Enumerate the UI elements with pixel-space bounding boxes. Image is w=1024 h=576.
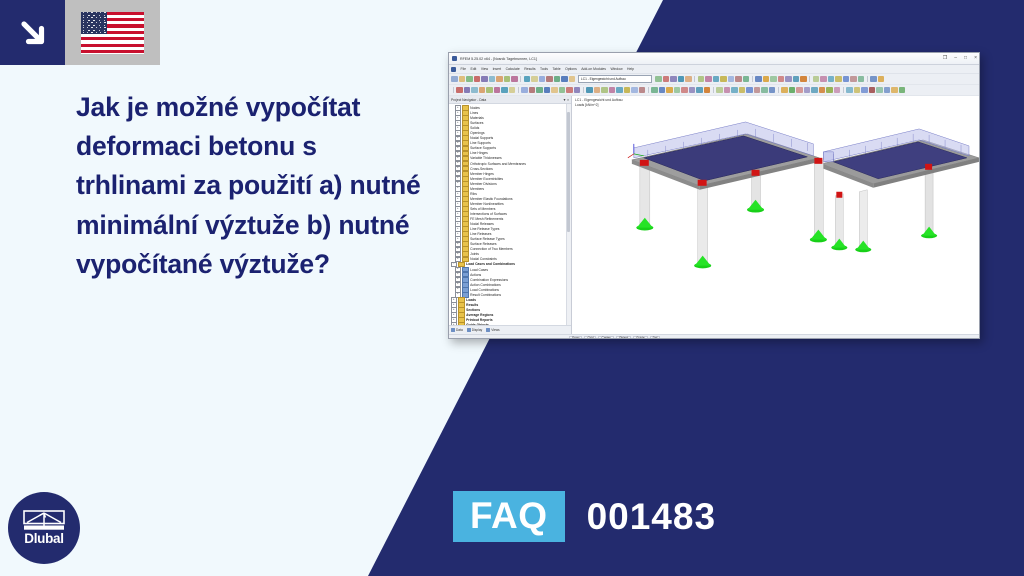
toolbar-separator <box>778 87 779 93</box>
toolbar-icon[interactable] <box>586 87 593 94</box>
toolbar-icon[interactable] <box>739 87 746 94</box>
toolbar-icon[interactable] <box>785 76 792 83</box>
toolbar-icon[interactable] <box>496 76 503 83</box>
toolbar-icon[interactable] <box>811 87 818 94</box>
status-cell[interactable]: Cartes <box>598 336 613 339</box>
menu-item-insert[interactable]: Insert <box>493 67 501 71</box>
tree-item-label: Surface Releases <box>470 242 496 246</box>
tree-item-label: Line Hinges <box>470 151 488 155</box>
tree-item-label: Intersections of Surfaces <box>470 212 507 216</box>
tree-item-label: Joints <box>470 252 479 256</box>
logo-wordmark: Dlubal <box>24 532 63 546</box>
tree-item-label: Member Nonlinearities <box>470 202 503 206</box>
toolbar-icon[interactable] <box>820 76 827 83</box>
toolbar-icon[interactable] <box>899 87 906 94</box>
toolbar-icon[interactable] <box>743 76 750 83</box>
tree-item-label: Nodal Releases <box>470 222 494 226</box>
tree-item-label: Line Release Types <box>470 227 499 231</box>
toolbar-icon[interactable] <box>670 76 677 83</box>
toolbar-icon[interactable] <box>539 76 546 83</box>
model-viewport[interactable]: LC1 - Eigengewicht und Aufbau Loads [kN/… <box>572 96 979 334</box>
toolbar-icon[interactable] <box>678 76 685 83</box>
toolbar-icon[interactable] <box>663 76 670 83</box>
menu-item-table[interactable]: Table <box>552 67 560 71</box>
toolbar-icon[interactable] <box>858 76 865 83</box>
tree-item-label: Load Cases <box>470 268 488 272</box>
tree-item-label: Surfaces <box>470 121 483 125</box>
tree-item-label: Orthotropic Surfaces and Membranes <box>470 162 526 166</box>
tab-views[interactable]: Views <box>486 328 499 332</box>
scrollbar-thumb[interactable] <box>567 112 570 232</box>
tree-expander-icon[interactable]: + <box>451 322 457 325</box>
toolbar-icon[interactable] <box>876 87 883 94</box>
toolbar-icon[interactable] <box>813 76 820 83</box>
toolbar-icon[interactable] <box>655 76 662 83</box>
toolbar-icon[interactable] <box>561 76 568 83</box>
toolbar-icon[interactable] <box>828 76 835 83</box>
navigator-tabs[interactable]: Data Display Views <box>449 325 571 334</box>
toolbar-icon[interactable] <box>834 87 841 94</box>
toolbar-icon[interactable] <box>869 87 876 94</box>
navigator-scrollbar[interactable] <box>566 104 572 325</box>
tree-item-label: Member Elastic Foundations <box>470 197 512 201</box>
window-title-text: RFEM 5.25.02 x64 - [Nosník Tagebrunnen, … <box>460 57 537 61</box>
toolbar-icon[interactable] <box>546 76 553 83</box>
navigator-pin-icon[interactable]: ▼ × <box>563 98 569 102</box>
toolbar-icon[interactable] <box>731 87 738 94</box>
navigator-tree[interactable]: +Nodes+Lines+Materials+Surfaces+Solids+O… <box>449 104 571 325</box>
toolbar-icon[interactable] <box>681 87 688 94</box>
tree-item-label: Line Releases <box>470 232 491 236</box>
tree-item-label: Results <box>466 303 478 307</box>
maximize-button[interactable]: □ <box>964 56 967 61</box>
menu-item-window[interactable]: Window <box>610 67 622 71</box>
window-title-bar: RFEM 5.25.02 x64 - [Nosník Tagebrunnen, … <box>449 53 979 65</box>
toolbar-icon[interactable] <box>471 87 478 94</box>
tree-item-label: Member Hinges <box>470 172 494 176</box>
toolbar-icon[interactable] <box>870 76 877 83</box>
toolbar-icon[interactable] <box>651 87 658 94</box>
load-case-combo[interactable]: LC1 - Eigengewicht und Aufbau <box>578 75 652 84</box>
toolbar-icon[interactable] <box>509 87 516 94</box>
faq-slide: Jak je možné vypočítat deformaci betonu … <box>0 0 1024 576</box>
toolbar-icon[interactable] <box>819 87 826 94</box>
toolbar-icon[interactable] <box>716 87 723 94</box>
toolbar-separator <box>520 76 521 82</box>
toolbar-icon[interactable] <box>796 87 803 94</box>
toolbar-icon[interactable] <box>891 87 898 94</box>
tree-item-label: Member Eccentricities <box>470 177 503 181</box>
window-controls: ❐ – □ × <box>943 53 977 64</box>
tree-item-label: Surface Supports <box>470 146 496 150</box>
toolbar-icon[interactable] <box>763 76 770 83</box>
toolbar-icon[interactable] <box>481 76 488 83</box>
language-flag-badge <box>65 0 160 65</box>
toolbar-icon[interactable] <box>778 76 785 83</box>
menu-item-tools[interactable]: Tools <box>540 67 548 71</box>
views-tab-icon <box>486 328 490 332</box>
front-supports <box>636 200 827 269</box>
navigator-title: Project Navigator - Data <box>451 98 486 102</box>
faq-question-headline: Jak je možné vypočítat deformaci betonu … <box>76 88 426 284</box>
toolbar-separator <box>713 87 714 93</box>
toolbar-icon[interactable] <box>551 87 558 94</box>
toolbar-separator <box>518 87 519 93</box>
toolbar-icon[interactable] <box>854 87 861 94</box>
faq-badge: FAQ <box>453 491 565 542</box>
toolbar-icon[interactable] <box>489 76 496 83</box>
toolbar-icon[interactable] <box>850 76 857 83</box>
us-flag-icon <box>81 12 144 54</box>
tree-item-label: Average Regions <box>466 313 493 317</box>
toolbar-icon[interactable] <box>624 87 631 94</box>
tab-data[interactable]: Data <box>451 328 463 332</box>
tree-item-label: Variable Thicknesses <box>470 156 501 160</box>
toolbar-icon[interactable] <box>674 87 681 94</box>
tree-item-label: Printout Reports <box>466 318 492 322</box>
dlubal-logo: Dlubal <box>8 492 80 564</box>
tree-item-label: Nodes <box>470 106 480 110</box>
faq-number: 001483 <box>587 498 716 535</box>
toolbar-icon[interactable] <box>698 76 705 83</box>
toolbar-icon[interactable] <box>789 87 796 94</box>
toolbar-separator <box>648 87 649 93</box>
toolbar-icon[interactable] <box>689 87 696 94</box>
toolbar-icon[interactable] <box>464 87 471 94</box>
rfem-application-window: RFEM 5.25.02 x64 - [Nosník Tagebrunnen, … <box>448 52 980 339</box>
toolbar-icon[interactable] <box>720 76 727 83</box>
tree-item-label: Members <box>470 187 484 191</box>
toolbar-icon[interactable] <box>501 87 508 94</box>
toolbar-icon[interactable] <box>804 87 811 94</box>
tree-item-label: Connection of Two Members <box>470 247 513 251</box>
toolbar-icon[interactable] <box>566 87 573 94</box>
status-cell[interactable]: Object <box>616 336 631 339</box>
window-body: Project Navigator - Data ▼ × +Nodes+Line… <box>449 96 979 334</box>
rear-supports <box>831 227 937 253</box>
toolbar-icon[interactable] <box>456 87 463 94</box>
tree-item-label: Solids <box>470 126 479 130</box>
project-navigator-panel: Project Navigator - Data ▼ × +Nodes+Line… <box>449 96 572 334</box>
restore-button[interactable]: ❐ <box>943 56 947 61</box>
toolbar-icon[interactable] <box>601 87 608 94</box>
menu-item-file[interactable]: File <box>461 67 466 71</box>
toolbar-icon[interactable] <box>666 87 673 94</box>
tree-item-label: Guide Objects <box>466 323 489 325</box>
navigator-header: Project Navigator - Data ▼ × <box>449 96 571 104</box>
toolbar-icon[interactable] <box>846 87 853 94</box>
menu-item-calculate[interactable]: Calculate <box>506 67 520 71</box>
toolbar-icon[interactable] <box>631 87 638 94</box>
toolbar-separator <box>453 87 454 93</box>
toolbar-icon[interactable] <box>735 76 742 83</box>
toolbar-icon[interactable] <box>594 87 601 94</box>
status-bar: SnapGridCartesObjectGuideDxf <box>449 334 979 339</box>
toolbar-icon[interactable] <box>524 76 531 83</box>
toolbar-icon[interactable] <box>704 87 711 94</box>
status-cell[interactable]: Snap <box>569 336 582 339</box>
toolbar-icon[interactable] <box>659 87 666 94</box>
toolbar-row-1[interactable]: LC1 - Eigengewicht und Aufbau <box>449 74 979 85</box>
toolbar-icon[interactable] <box>835 76 842 83</box>
menu-item-results[interactable]: Results <box>524 67 535 71</box>
toolbar-icon[interactable] <box>529 87 536 94</box>
app-icon <box>452 56 457 61</box>
toolbar-icon[interactable] <box>554 76 561 83</box>
tree-item-label: Sets of Members <box>470 207 495 211</box>
menu-bar[interactable]: File Edit View Insert Calculate Results … <box>449 65 979 74</box>
close-button[interactable]: × <box>974 56 977 61</box>
toolbar-icon[interactable] <box>559 87 566 94</box>
tree-item-label: Combination Expressions <box>470 278 508 282</box>
toolbar-icon[interactable] <box>616 87 623 94</box>
toolbar-icon[interactable] <box>793 76 800 83</box>
toolbar-icon[interactable] <box>728 76 735 83</box>
toolbar-icon[interactable] <box>754 87 761 94</box>
display-tab-icon <box>467 328 471 332</box>
tree-item-label: Lines <box>470 111 478 115</box>
minimize-button[interactable]: – <box>954 56 957 61</box>
tree-item-label: Load Combinations <box>470 288 499 292</box>
toolbar-icon[interactable] <box>531 76 538 83</box>
toolbar-icon[interactable] <box>504 76 511 83</box>
tab-display[interactable]: Display <box>467 328 482 332</box>
menu-item-view[interactable]: View <box>481 67 488 71</box>
toolbar-icon[interactable] <box>878 76 885 83</box>
menu-item-addon-modules[interactable]: Add-on Modules <box>581 67 606 71</box>
corner-arrow-badge <box>0 0 65 65</box>
tree-item-label: Load Cases and Combinations <box>466 262 515 266</box>
tree-item-label: Sections <box>466 308 480 312</box>
toolbar-icon[interactable] <box>486 87 493 94</box>
tree-item-label: Result Combinations <box>470 293 501 297</box>
menu-item-options[interactable]: Options <box>565 67 577 71</box>
toolbar-icon[interactable] <box>884 87 891 94</box>
tree-item-label: Ribs <box>470 192 477 196</box>
toolbar-icon[interactable] <box>569 76 576 83</box>
toolbar-icon[interactable] <box>639 87 646 94</box>
menu-app-icon <box>451 67 456 72</box>
tree-item-label: Loads <box>466 298 476 302</box>
toolbar-separator <box>752 76 753 82</box>
toolbar-icon[interactable] <box>494 87 501 94</box>
toolbar-icon[interactable] <box>770 76 777 83</box>
toolbar-icon[interactable] <box>696 87 703 94</box>
tree-item[interactable]: +Guide Objects <box>449 323 571 325</box>
toolbar-icon[interactable] <box>459 76 466 83</box>
truss-frame-icon <box>23 510 65 531</box>
tree-item-label: Line Supports <box>470 141 491 145</box>
toolbar-separator <box>867 76 868 82</box>
faq-footer: FAQ 001483 <box>453 491 716 542</box>
menu-item-help[interactable]: Help <box>627 67 634 71</box>
toolbar-icon[interactable] <box>479 87 486 94</box>
toolbar-icon[interactable] <box>609 87 616 94</box>
toolbar-icon[interactable] <box>761 87 768 94</box>
toolbar-icon[interactable] <box>843 76 850 83</box>
toolbar-icon[interactable] <box>466 76 473 83</box>
toolbar-icon[interactable] <box>521 87 528 94</box>
tree-item-label: Action Combinations <box>470 283 501 287</box>
toolbar-separator <box>694 76 695 82</box>
tree-item-label: Actions <box>470 273 481 277</box>
toolbar-icon[interactable] <box>769 87 776 94</box>
arrow-down-right-icon <box>16 16 50 50</box>
toolbar-icon[interactable] <box>574 87 581 94</box>
toolbar-icon[interactable] <box>826 87 833 94</box>
tree-item-label: Openings <box>470 131 484 135</box>
toolbar-icon[interactable] <box>713 76 720 83</box>
status-cell[interactable]: Dxf <box>650 336 661 339</box>
toolbar-row-2[interactable] <box>449 85 979 96</box>
toolbar-separator <box>583 87 584 93</box>
toolbar-icon[interactable] <box>800 76 807 83</box>
menu-item-edit[interactable]: Edit <box>470 67 476 71</box>
tree-item-label: Materials <box>470 116 484 120</box>
toolbar-separator <box>809 76 810 82</box>
toolbar-icon[interactable] <box>474 76 481 83</box>
toolbar-separator <box>843 87 844 93</box>
tree-item-label: Cross-Sections <box>470 167 493 171</box>
status-cell[interactable]: Guide <box>633 336 648 339</box>
tree-item-label: Surface Release Types <box>470 237 505 241</box>
toolbar-icon[interactable] <box>511 76 518 83</box>
data-tab-icon <box>451 328 455 332</box>
toolbar-icon[interactable] <box>536 87 543 94</box>
structural-model-3d <box>572 96 979 333</box>
toolbar-icon[interactable] <box>685 76 692 83</box>
tree-item-label: Member Divisions <box>470 182 497 186</box>
tree-item-label: Nodal Supports <box>470 136 493 140</box>
toolbar-icon[interactable] <box>724 87 731 94</box>
folder-icon <box>458 322 465 325</box>
tree-item-label: Nodal Constraints <box>470 257 497 261</box>
toolbar-icon[interactable] <box>746 87 753 94</box>
tree-item-label: FE Mesh Refinements <box>470 217 503 221</box>
toolbar-icon[interactable] <box>451 76 458 83</box>
toolbar-icon[interactable] <box>861 87 868 94</box>
toolbar-icon[interactable] <box>705 76 712 83</box>
toolbar-icon[interactable] <box>781 87 788 94</box>
status-cell[interactable]: Grid <box>584 336 596 339</box>
toolbar-icon[interactable] <box>544 87 551 94</box>
toolbar-icon[interactable] <box>755 76 762 83</box>
